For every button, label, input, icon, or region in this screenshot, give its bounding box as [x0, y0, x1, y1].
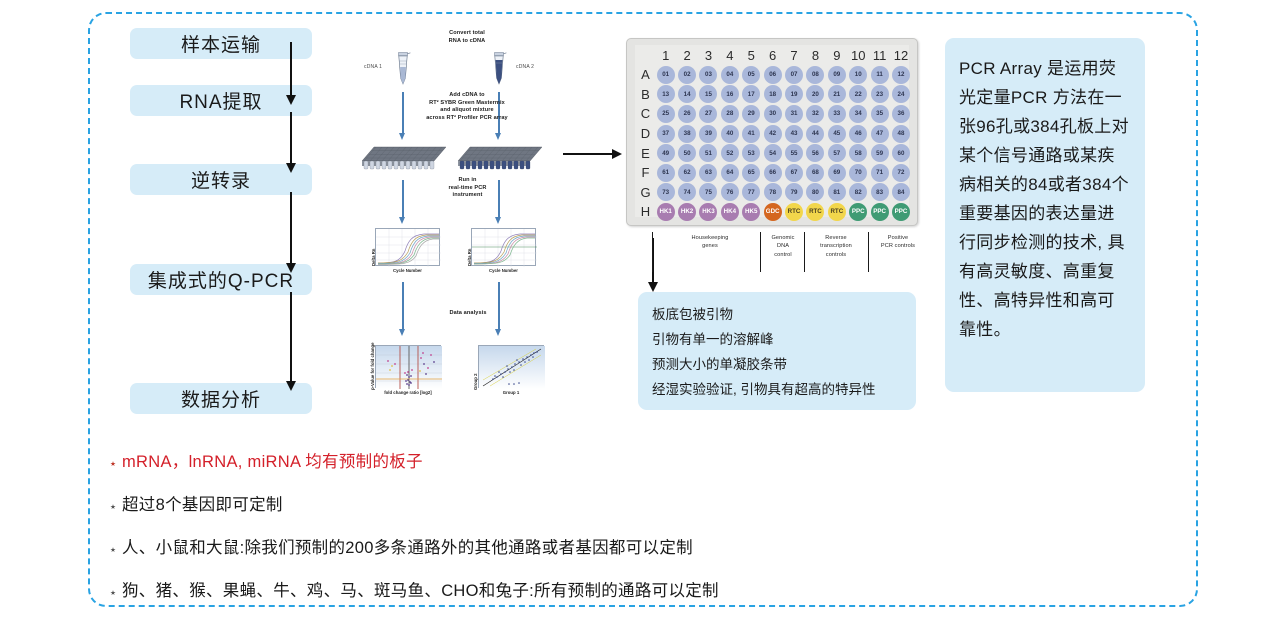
flow-arrow-4: [290, 292, 292, 382]
plate-note-line: 引物有单一的溶解峰: [652, 327, 902, 352]
plate-column-header: 7: [783, 48, 804, 63]
plate-well[interactable]: 53: [742, 144, 760, 162]
plate-column-header: 6: [762, 48, 783, 63]
plate-well[interactable]: 66: [764, 164, 782, 182]
plate-well[interactable]: 84: [892, 183, 910, 201]
workflow-arrow-right-3: [498, 282, 500, 330]
plate-row-header: C: [638, 104, 653, 124]
plate-column-header: 1: [655, 48, 676, 63]
flow-arrow-2: [290, 112, 292, 164]
plate-column-header: 10: [848, 48, 869, 63]
plate-well[interactable]: 50: [678, 144, 696, 162]
plate-row-header: G: [638, 183, 653, 203]
flow-step-label: 样本运输: [181, 30, 261, 57]
cdna-tube-1-label: cDNA 1: [364, 64, 382, 70]
plate-well[interactable]: 70: [849, 164, 867, 182]
plate-well[interactable]: 80: [806, 183, 824, 201]
legend-housekeeping-genes: Housekeeping genes: [662, 234, 758, 251]
feature-bullet-item: ٭人、小鼠和大鼠:除我们预制的200多条通路外的其他通路或者基因都可以定制: [110, 534, 1110, 558]
flow-step-label: RNA提取: [179, 87, 262, 114]
workflow-run-label: Run in real-time PCR instrument: [415, 177, 520, 200]
plate-well[interactable]: HK3: [699, 203, 717, 221]
legend-positive-pcr-controls: Positive PCR controls: [870, 234, 926, 251]
plate-column-header: 9: [826, 48, 847, 63]
plate-well[interactable]: 45: [828, 125, 846, 143]
plate-well[interactable]: 20: [806, 85, 824, 103]
plate-column-header: 8: [805, 48, 826, 63]
legend-reverse-transcription-controls: Reverse transcription controls: [806, 234, 866, 259]
pcr-array-infographic: 样本运输 RNA提取 逆转录 集成式的Q-PCR 数据分析 Convert to…: [0, 0, 1269, 619]
plate-well[interactable]: 12: [892, 66, 910, 84]
plate-well[interactable]: 83: [871, 183, 889, 201]
plate-well[interactable]: 52: [721, 144, 739, 162]
plate-well[interactable]: PPC: [871, 203, 889, 221]
workflow-arrow-left-1: [402, 92, 404, 134]
plate-well[interactable]: 30: [764, 105, 782, 123]
legend-genomic-dna-control: Genomic DNA control: [762, 234, 804, 259]
amplification-chart-right: [471, 228, 536, 266]
plate-row-header: B: [638, 85, 653, 105]
plate-column-header: 11: [869, 48, 890, 63]
plate-well[interactable]: RTC: [785, 203, 803, 221]
plate-well[interactable]: 37: [657, 125, 675, 143]
plate-column-header: 4: [719, 48, 740, 63]
workflow-arrow-left-3: [402, 282, 404, 330]
plate-well[interactable]: 07: [785, 66, 803, 84]
plate-well[interactable]: 23: [871, 85, 889, 103]
plate-well[interactable]: 32: [806, 105, 824, 123]
plate-column-header: 5: [741, 48, 762, 63]
plate-well[interactable]: 39: [699, 125, 717, 143]
plate-well[interactable]: 11: [871, 66, 889, 84]
plate-well[interactable]: 62: [678, 164, 696, 182]
96-well-plate: 123456789101112 ABCDEFGH 010203040506070…: [626, 38, 918, 226]
flow-step-reverse-transcription[interactable]: 逆转录: [130, 164, 312, 195]
plate-well[interactable]: 38: [678, 125, 696, 143]
plate-well[interactable]: 81: [828, 183, 846, 201]
plate-note-line: 板底包被引物: [652, 302, 902, 327]
plate-well[interactable]: 76: [721, 183, 739, 201]
plate-well[interactable]: 21: [828, 85, 846, 103]
cdna-tube-1-icon: [395, 52, 411, 86]
plate-well[interactable]: HK1: [657, 203, 675, 221]
plate-row-header: H: [638, 202, 653, 222]
plate-well[interactable]: PPC: [849, 203, 867, 221]
plate-well[interactable]: 06: [764, 66, 782, 84]
plate-well[interactable]: GDC: [764, 203, 782, 221]
plate-well[interactable]: 01: [657, 66, 675, 84]
plate-well[interactable]: 57: [828, 144, 846, 162]
plate-well[interactable]: 69: [828, 164, 846, 182]
plate-well[interactable]: 77: [742, 183, 760, 201]
plate-well[interactable]: 59: [871, 144, 889, 162]
plate-column-header: 3: [698, 48, 719, 63]
plate-well[interactable]: 55: [785, 144, 803, 162]
plate-well[interactable]: 04: [721, 66, 739, 84]
plate-well[interactable]: 25: [657, 105, 675, 123]
flow-step-integrated-qpcr[interactable]: 集成式的Q-PCR: [130, 264, 312, 295]
plate-well[interactable]: 26: [678, 105, 696, 123]
bullet-text: mRNA，lnRNA, miRNA 均有预制的板子: [122, 448, 423, 472]
plate-well[interactable]: 28: [721, 105, 739, 123]
bullet-text: 人、小鼠和大鼠:除我们预制的200多条通路外的其他通路或者基因都可以定制: [122, 534, 693, 558]
plate-well[interactable]: 75: [699, 183, 717, 201]
volcano-ylabel: p-Value for fold change: [370, 342, 375, 390]
plate-well[interactable]: 41: [742, 125, 760, 143]
scatter-xlabel: Group 1: [476, 390, 546, 395]
plate-column-header: 12: [890, 48, 911, 63]
plate-well[interactable]: 17: [742, 85, 760, 103]
volcano-plot-chart: [375, 345, 441, 388]
flow-step-sample-transport[interactable]: 样本运输: [130, 28, 312, 59]
plate-well[interactable]: 02: [678, 66, 696, 84]
plate-well[interactable]: HK5: [742, 203, 760, 221]
plate-column-headers: 123456789101112: [655, 48, 912, 63]
plate-well[interactable]: 27: [699, 105, 717, 123]
plate-well[interactable]: HK2: [678, 203, 696, 221]
plate-row-header: A: [638, 65, 653, 85]
feature-bullet-item: ٭超过8个基因即可定制: [110, 491, 1110, 515]
plate-well[interactable]: 48: [892, 125, 910, 143]
plate-well[interactable]: 09: [828, 66, 846, 84]
flow-step-label: 逆转录: [191, 166, 251, 193]
flow-step-label: 集成式的Q-PCR: [148, 266, 294, 293]
plate-well[interactable]: RTC: [828, 203, 846, 221]
workflow-convert-label: Convert total RNA to cDNA: [415, 30, 519, 45]
plate-well[interactable]: 46: [849, 125, 867, 143]
cdna-tube-2-icon: [491, 52, 507, 86]
plate-notes-box: 板底包被引物 引物有单一的溶解峰 预测大小的单凝胶条带 经湿实验验证, 引物具有…: [638, 292, 916, 410]
feature-bullet-item: ٭mRNA，lnRNA, miRNA 均有预制的板子: [110, 448, 1110, 472]
plate-well[interactable]: 68: [806, 164, 824, 182]
plate-row-headers: ABCDEFGH: [638, 65, 653, 222]
amp-chart-right-ylabel: Delta Rn: [467, 249, 472, 266]
plate-column-header: 2: [676, 48, 697, 63]
plate-well[interactable]: 67: [785, 164, 803, 182]
amplification-chart-left: [375, 228, 440, 266]
amp-chart-left-ylabel: Delta Rn: [371, 249, 376, 266]
plate-well[interactable]: 73: [657, 183, 675, 201]
plate-row-header: D: [638, 124, 653, 144]
plate-well[interactable]: 03: [699, 66, 717, 84]
arrow-rack-to-plate: [563, 153, 613, 155]
plate-well[interactable]: 63: [699, 164, 717, 182]
flow-step-data-analysis[interactable]: 数据分析: [130, 383, 312, 414]
plate-well[interactable]: 71: [871, 164, 889, 182]
plate-well[interactable]: 31: [785, 105, 803, 123]
plate-well[interactable]: 14: [678, 85, 696, 103]
plate-row-header: E: [638, 143, 653, 163]
plate-well[interactable]: 16: [721, 85, 739, 103]
plate-well[interactable]: 43: [785, 125, 803, 143]
scatter-plot-chart: [478, 345, 544, 388]
workflow-arrow-left-2: [402, 180, 404, 218]
plate-well[interactable]: 61: [657, 164, 675, 182]
plate-well[interactable]: 19: [785, 85, 803, 103]
plate-well[interactable]: 60: [892, 144, 910, 162]
plate-legend: Housekeeping genes Genomic DNA control R…: [652, 232, 922, 272]
plate-note-line: 经湿实验验证, 引物具有超高的特异性: [652, 377, 902, 402]
plate-note-line: 预测大小的单凝胶条带: [652, 352, 902, 377]
plate-well[interactable]: 15: [699, 85, 717, 103]
plate-well[interactable]: 82: [849, 183, 867, 201]
bullet-marker-icon: ٭: [110, 459, 116, 470]
cdna-tube-2-label: cDNA 2: [516, 64, 534, 70]
plate-well[interactable]: 54: [764, 144, 782, 162]
plate-well[interactable]: 13: [657, 85, 675, 103]
plate-well[interactable]: 72: [892, 164, 910, 182]
plate-well[interactable]: 33: [828, 105, 846, 123]
plate-well[interactable]: 34: [849, 105, 867, 123]
workflow-data-analysis-label: Data analysis: [418, 310, 518, 318]
plate-well[interactable]: 10: [849, 66, 867, 84]
plate-well[interactable]: PPC: [892, 203, 910, 221]
plate-well[interactable]: 65: [742, 164, 760, 182]
flow-arrow-3: [290, 192, 292, 264]
plate-well[interactable]: 29: [742, 105, 760, 123]
bullet-marker-icon: ٭: [110, 502, 116, 513]
bullet-text: 超过8个基因即可定制: [122, 491, 283, 515]
bullet-marker-icon: ٭: [110, 545, 116, 556]
workflow-add-cdna-label: Add cDNA to RT² SYBR Green Mastermix and…: [412, 92, 522, 123]
volcano-xlabel: fold change ratio [log2]: [373, 390, 443, 395]
bullet-text: 狗、猪、猴、果蝇、牛、鸡、马、斑马鱼、CHO和兔子:所有预制的通路可以定制: [122, 577, 719, 601]
pcr-array-description-text: PCR Array 是运用荧光定量PCR 方法在一张96孔或384孔板上对某个信…: [959, 54, 1131, 344]
plate-well[interactable]: 58: [849, 144, 867, 162]
plate-well[interactable]: 35: [871, 105, 889, 123]
scatter-ylabel: Group 2: [473, 374, 478, 390]
plate-well[interactable]: 56: [806, 144, 824, 162]
plate-row-header: F: [638, 163, 653, 183]
plate-well[interactable]: 22: [849, 85, 867, 103]
plate-well[interactable]: 78: [764, 183, 782, 201]
plate-inner-surface: 123456789101112 ABCDEFGH 010203040506070…: [635, 45, 909, 217]
plate-well[interactable]: 08: [806, 66, 824, 84]
pcr-array-rack-right-icon: [458, 145, 542, 173]
pcr-array-rack-left-icon: [362, 145, 446, 173]
plate-well[interactable]: 42: [764, 125, 782, 143]
amp-chart-left-xlabel: Cycle Number: [375, 268, 440, 273]
legend-tick-1: [652, 232, 653, 272]
flow-step-label: 数据分析: [181, 385, 261, 412]
plate-well[interactable]: 40: [721, 125, 739, 143]
flow-step-rna-extraction[interactable]: RNA提取: [130, 85, 312, 116]
plate-well[interactable]: 05: [742, 66, 760, 84]
bullet-marker-icon: ٭: [110, 588, 116, 599]
plate-well[interactable]: 18: [764, 85, 782, 103]
plate-well[interactable]: 47: [871, 125, 889, 143]
plate-well[interactable]: 49: [657, 144, 675, 162]
plate-well[interactable]: 36: [892, 105, 910, 123]
pcr-array-description-box: PCR Array 是运用荧光定量PCR 方法在一张96孔或384孔板上对某个信…: [945, 38, 1145, 392]
feature-bullet-list: ٭mRNA，lnRNA, miRNA 均有预制的板子٭超过8个基因即可定制٭人、…: [110, 448, 1110, 619]
plate-well[interactable]: 64: [721, 164, 739, 182]
plate-well[interactable]: 79: [785, 183, 803, 201]
plate-well[interactable]: 74: [678, 183, 696, 201]
plate-well[interactable]: 24: [892, 85, 910, 103]
amp-chart-right-xlabel: Cycle Number: [471, 268, 536, 273]
flow-arrow-1: [290, 42, 292, 96]
plate-well[interactable]: 44: [806, 125, 824, 143]
plate-well[interactable]: HK4: [721, 203, 739, 221]
plate-well[interactable]: 51: [699, 144, 717, 162]
plate-well-grid: 0102030405060708091011121314151617181920…: [655, 65, 912, 222]
feature-bullet-item: ٭狗、猪、猴、果蝇、牛、鸡、马、斑马鱼、CHO和兔子:所有预制的通路可以定制: [110, 577, 1110, 601]
plate-well[interactable]: RTC: [806, 203, 824, 221]
